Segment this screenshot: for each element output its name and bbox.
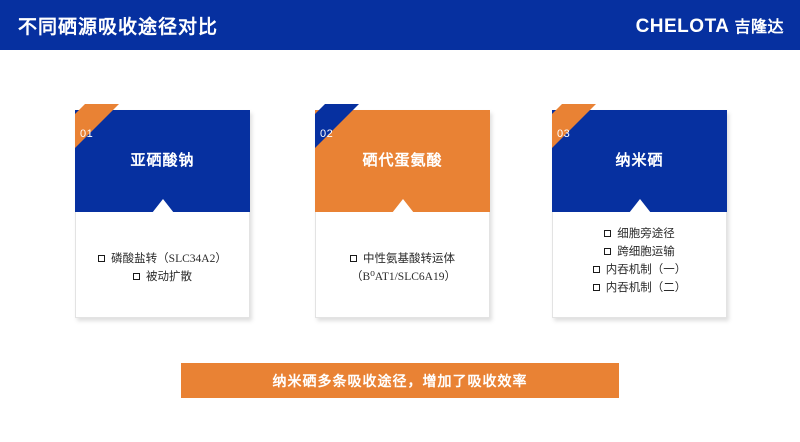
- card-header: 纳米硒: [552, 110, 727, 212]
- bullet-square-icon: [604, 248, 611, 255]
- header-notch: [392, 199, 414, 212]
- summary-banner-text: 纳米硒多条吸收途径，增加了吸收效率: [273, 371, 528, 391]
- card-header: 亚硒酸钠: [75, 110, 250, 212]
- card-bullet-list: 细胞旁途径跨细胞运输内吞机制（一）内吞机制（二）: [552, 225, 727, 297]
- slide-canvas: 不同硒源吸收途径对比 CHELOTA 吉隆达 亚硒酸钠 01 磷酸盐转（SLC3…: [0, 0, 800, 442]
- bullet-text: 细胞旁途径: [617, 228, 675, 240]
- bullet-text: 内吞机制（二）: [606, 282, 687, 294]
- card-title: 纳米硒: [615, 149, 663, 170]
- bullet-item: （B⁰AT1/SLC6A19）: [321, 268, 484, 286]
- card-bullet-list: 中性氨基酸转运体（B⁰AT1/SLC6A19）: [315, 250, 490, 286]
- brand-chinese-text: 吉隆达: [734, 13, 784, 37]
- brand-latin-text: CHELOTA: [636, 16, 730, 38]
- bullet-square-icon: [604, 230, 611, 237]
- summary-banner: 纳米硒多条吸收途径，增加了吸收效率: [181, 363, 619, 398]
- bullet-text: 中性氨基酸转运体: [363, 253, 455, 265]
- brand-logo: CHELOTA 吉隆达: [636, 13, 784, 38]
- card-bullet-list: 磷酸盐转（SLC34A2）被动扩散: [75, 250, 250, 286]
- bullet-item: 跨细胞运输: [558, 243, 721, 261]
- bullet-text: 磷酸盐转（SLC34A2）: [111, 253, 227, 265]
- slide-header-bar: 不同硒源吸收途径对比 CHELOTA 吉隆达: [0, 0, 800, 50]
- bullet-item: 细胞旁途径: [558, 225, 721, 243]
- bullet-square-icon: [350, 255, 357, 262]
- bullet-square-icon: [98, 255, 105, 262]
- bullet-text: （B⁰AT1/SLC6A19）: [351, 271, 456, 283]
- bullet-square-icon: [593, 266, 600, 273]
- bullet-text: 被动扩散: [146, 271, 192, 283]
- bullet-item: 内吞机制（二）: [558, 279, 721, 297]
- card-header: 硒代蛋氨酸: [315, 110, 490, 212]
- bullet-text: 内吞机制（一）: [606, 264, 687, 276]
- page-title: 不同硒源吸收途径对比: [18, 12, 218, 39]
- header-notch: [152, 199, 174, 212]
- bullet-text: 跨细胞运输: [617, 246, 675, 258]
- header-notch: [629, 199, 651, 212]
- bullet-item: 中性氨基酸转运体: [321, 250, 484, 268]
- bullet-item: 磷酸盐转（SLC34A2）: [81, 250, 244, 268]
- bullet-item: 被动扩散: [81, 268, 244, 286]
- bullet-square-icon: [133, 273, 140, 280]
- bullet-item: 内吞机制（一）: [558, 261, 721, 279]
- bullet-square-icon: [593, 284, 600, 291]
- card-title: 硒代蛋氨酸: [362, 149, 442, 170]
- card-title: 亚硒酸钠: [130, 149, 194, 170]
